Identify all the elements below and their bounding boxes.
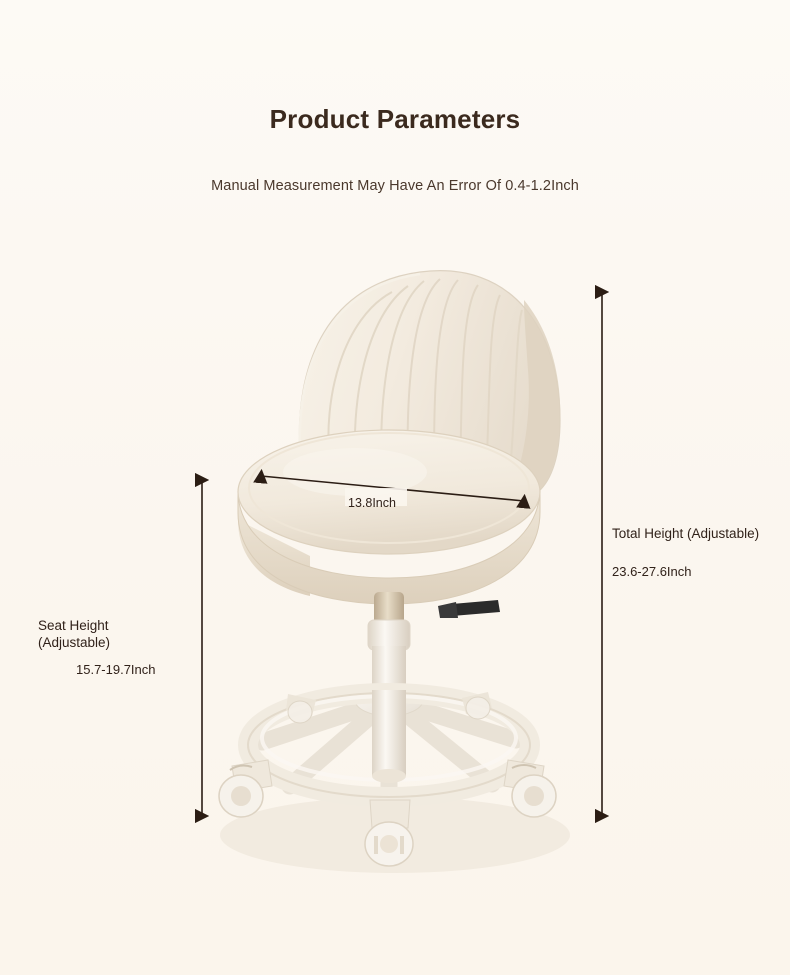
measurement-disclaimer: Manual Measurement May Have An Error Of … [0, 178, 790, 194]
total-height-value: 23.6-27.6Inch [612, 564, 692, 580]
product-illustration [0, 0, 790, 975]
page-title: Product Parameters [0, 104, 790, 135]
total-height-label: Total Height (Adjustable) [612, 526, 759, 543]
seat-height-value: 15.7-19.7Inch [76, 662, 156, 678]
seat-width-value: 13.8Inch [348, 496, 396, 512]
product-parameters-page: Product Parameters Manual Measurement Ma… [0, 0, 790, 975]
seat-height-label: Seat Height (Adjustable) [38, 618, 110, 652]
